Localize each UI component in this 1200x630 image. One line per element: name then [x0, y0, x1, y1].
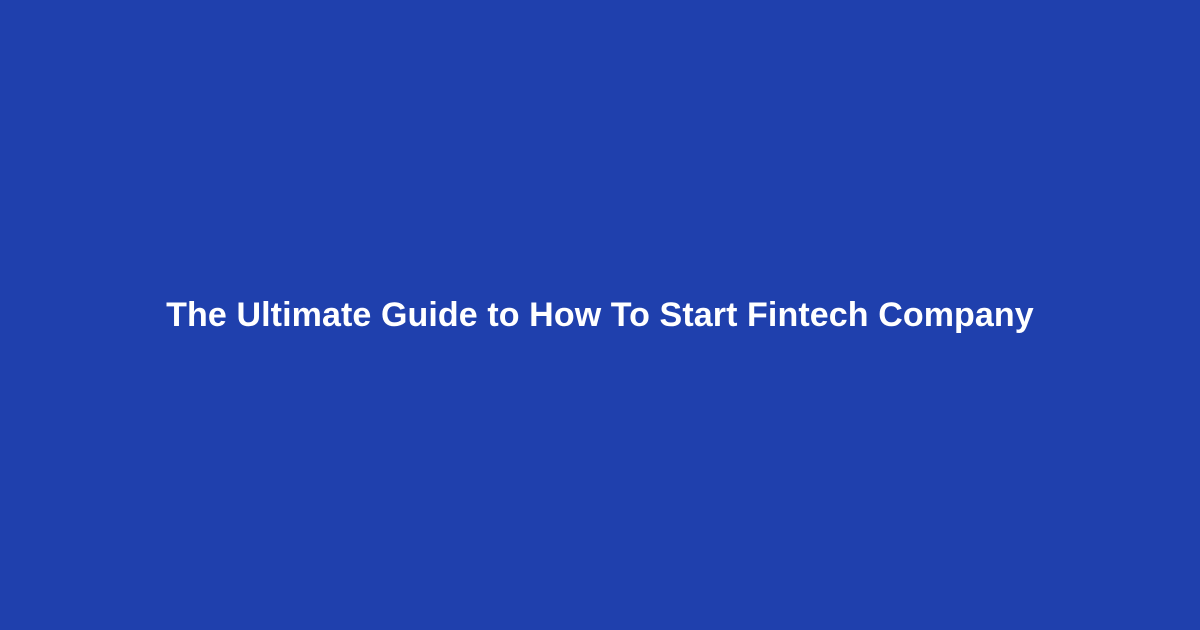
- social-share-card: The Ultimate Guide to How To Start Finte…: [0, 0, 1200, 630]
- card-content: The Ultimate Guide to How To Start Finte…: [100, 293, 1100, 337]
- page-title: The Ultimate Guide to How To Start Finte…: [166, 293, 1034, 337]
